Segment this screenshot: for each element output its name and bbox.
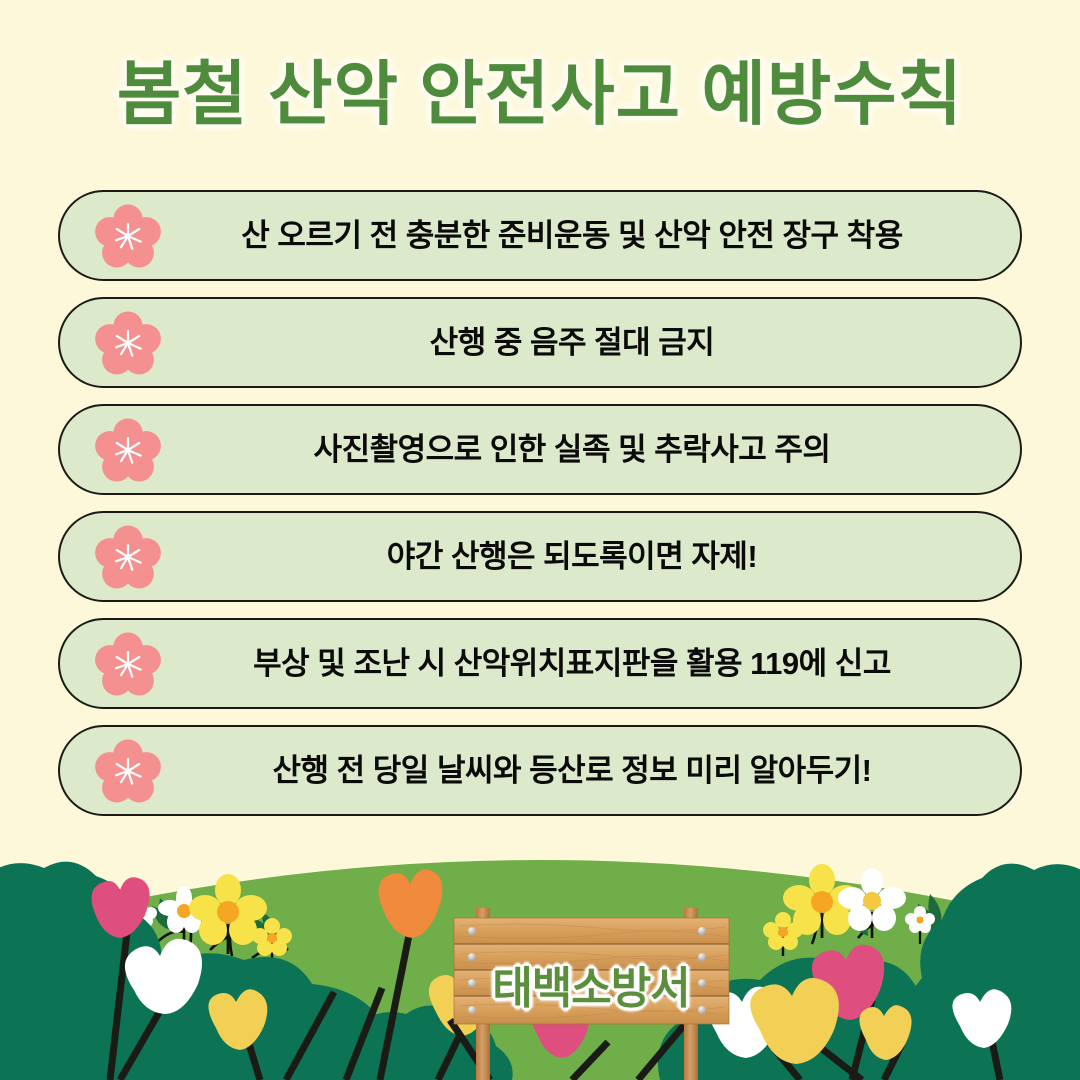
title-container: 봄철 산악 안전사고 예방수칙 bbox=[0, 38, 1080, 139]
rule-text: 산 오르기 전 충분한 준비운동 및 산악 안전 장구 착용 bbox=[60, 220, 1020, 251]
poster-root: 봄철 산악 안전사고 예방수칙 bbox=[0, 0, 1080, 1080]
rule-text: 산행 중 음주 절대 금지 bbox=[60, 327, 1020, 358]
sign-planks bbox=[454, 918, 729, 1024]
rule-text: 야간 산행은 되도록이면 자제! bbox=[60, 541, 1020, 572]
rule-row[interactable]: 산 오르기 전 충분한 준비운동 및 산악 안전 장구 착용 bbox=[58, 190, 1022, 281]
cherry-blossom-icon bbox=[92, 415, 164, 485]
wooden-sign-svg bbox=[436, 900, 746, 1080]
rule-text: 사진촬영으로 인한 실족 및 추락사고 주의 bbox=[60, 434, 1020, 465]
cherry-blossom-icon bbox=[92, 629, 164, 699]
rule-row[interactable]: 산행 중 음주 절대 금지 bbox=[58, 297, 1022, 388]
rule-row[interactable]: 부상 및 조난 시 산악위치표지판을 활용 119에 신고 bbox=[58, 618, 1022, 709]
cherry-blossom-icon bbox=[92, 522, 164, 592]
cherry-blossom-icon bbox=[92, 308, 164, 378]
rule-row[interactable]: 산행 전 당일 날씨와 등산로 정보 미리 알아두기! bbox=[58, 725, 1022, 816]
rule-row[interactable]: 야간 산행은 되도록이면 자제! bbox=[58, 511, 1022, 602]
rule-text: 부상 및 조난 시 산악위치표지판을 활용 119에 신고 bbox=[60, 648, 1020, 679]
rule-text: 산행 전 당일 날씨와 등산로 정보 미리 알아두기! bbox=[60, 755, 1020, 786]
wooden-sign: 태백소방서 bbox=[436, 900, 746, 1080]
rule-row[interactable]: 사진촬영으로 인한 실족 및 추락사고 주의 bbox=[58, 404, 1022, 495]
page-title: 봄철 산악 안전사고 예방수칙 bbox=[117, 38, 963, 139]
cherry-blossom-icon bbox=[92, 201, 164, 271]
safety-rules-list: 산 오르기 전 충분한 준비운동 및 산악 안전 장구 착용 bbox=[58, 190, 1022, 832]
cherry-blossom-icon bbox=[92, 736, 164, 806]
